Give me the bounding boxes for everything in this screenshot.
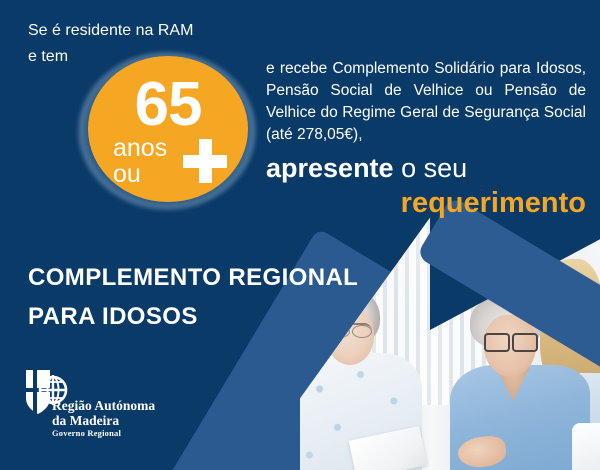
age-badge: 65 anos ou [88, 56, 248, 202]
logo-wordmark: Região Autónoma da Madeira Governo Regio… [52, 398, 202, 439]
chair-back [572, 423, 600, 470]
eligibility-copy: e recebe Complemento Solidário para Idos… [266, 58, 586, 221]
headline-line-2: PARA IDOSOS [28, 297, 368, 336]
intro-line-1: Se é residente na RAM [28, 18, 258, 44]
call-to-action-line-2: requerimento [266, 185, 586, 221]
age-badge-number: 65 [135, 77, 202, 133]
logo-line-2: da Madeira [52, 413, 202, 428]
person-center-glasses-icon [484, 333, 536, 349]
government-logo: Região Autónoma da Madeira Governo Regio… [24, 368, 204, 438]
logo-line-1: Região Autónoma [52, 398, 202, 413]
eligibility-paragraph: e recebe Complemento Solidário para Idos… [266, 58, 586, 146]
call-to-action-line-1: apresente o seu [266, 152, 586, 185]
campaign-banner: Se é residente na RAM e tem 65 anos ou e… [0, 0, 600, 470]
plus-icon [181, 137, 229, 185]
cta-rest-words: o seu [401, 153, 467, 183]
headline-line-1: COMPLEMENTO REGIONAL [28, 258, 368, 297]
age-badge-subtext: anos ou [105, 135, 231, 187]
logo-line-3: Governo Regional [52, 428, 202, 439]
cta-strong-word: apresente [266, 153, 394, 183]
page-title: COMPLEMENTO REGIONAL PARA IDOSOS [28, 258, 368, 336]
